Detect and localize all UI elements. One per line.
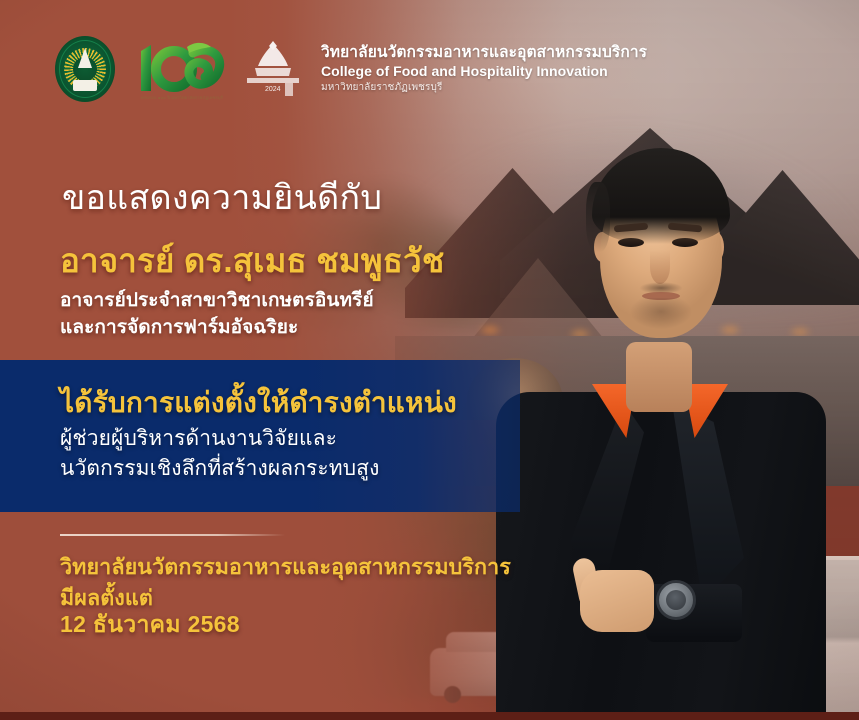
position-line-2: นวัตกรรมเชิงลึกที่สร้างผลกระทบสูง	[60, 454, 379, 484]
portrait-nose	[650, 250, 670, 284]
portrait-eye-left	[618, 238, 644, 247]
congratulation-poster: ครบรอบ ๑๐๐ ปี มหาวิทยาลัยราชภัฏเพชรบุรี …	[0, 0, 859, 720]
person-role-line-1: อาจารย์ประจำสาขาวิชาเกษตรอินทรีย์	[60, 288, 374, 315]
portrait-chin-shadow	[626, 298, 696, 332]
portrait-suit-jacket	[496, 392, 826, 720]
org-name-thai: วิทยาลัยนวัตกรรมอาหารและอุตสาหกรรมบริการ	[321, 44, 647, 63]
portrait-eye-right	[672, 238, 698, 247]
portrait-photo	[480, 92, 840, 720]
org-name-english: College of Food and Hospitality Innovati…	[321, 63, 647, 81]
footer-divider	[60, 534, 285, 536]
congratulations-heading: ขอแสดงความยินดีกับ	[62, 178, 382, 219]
anniversary-caption: ครบรอบ ๑๐๐ ปี มหาวิทยาลัยราชภัฏเพชรบุรี	[139, 94, 225, 101]
wristwatch-icon	[656, 580, 696, 620]
footer-organization: วิทยาลัยนวัตกรรมอาหารและอุตสาหกรรมบริการ…	[60, 552, 511, 613]
seal-base	[73, 80, 97, 91]
appointment-title: ได้รับการแต่งตั้งให้ดำรงตำแหน่ง	[60, 386, 457, 420]
effective-label: มีผลตั้งแต่	[60, 583, 511, 614]
100-years-anniversary-logo: ครบรอบ ๑๐๐ ปี มหาวิทยาลัยราชภัฏเพชรบุรี	[127, 39, 227, 99]
person-name: อาจารย์ ดร.สุเมธ ชมพูธวัช	[60, 242, 444, 281]
portrait-hand	[580, 570, 654, 632]
position-line-1: ผู้ช่วยผู้บริหารด้านงานวิจัยและ	[60, 424, 379, 454]
university-name-thai: มหาวิทยาลัยราชภัฏเพชรบุรี	[321, 81, 647, 94]
college-building-logo: 2024	[239, 38, 307, 100]
portrait-hair	[592, 148, 730, 244]
appointment-position: ผู้ช่วยผู้บริหารด้านงานวิจัยและ นวัตกรรม…	[60, 424, 379, 485]
person-role: อาจารย์ประจำสาขาวิชาเกษตรอินทรีย์ และการ…	[60, 288, 374, 342]
bottom-accent-strip	[0, 712, 859, 720]
effective-date: 12 ธันวาคม 2568	[60, 610, 240, 640]
header: ครบรอบ ๑๐๐ ปี มหาวิทยาลัยราชภัฏเพชรบุรี …	[55, 36, 647, 102]
portrait-neck	[626, 342, 692, 412]
university-seal-icon	[55, 36, 115, 102]
footer-organization-name: วิทยาลัยนวัตกรรมอาหารและอุตสาหกรรมบริการ	[60, 552, 511, 583]
organization-names: วิทยาลัยนวัตกรรมอาหารและอุตสาหกรรมบริการ…	[321, 44, 647, 93]
building-logo-year: 2024	[265, 86, 281, 93]
person-role-line-2: และการจัดการฟาร์มอัจฉริยะ	[60, 315, 374, 342]
seal-pagoda	[78, 48, 92, 68]
